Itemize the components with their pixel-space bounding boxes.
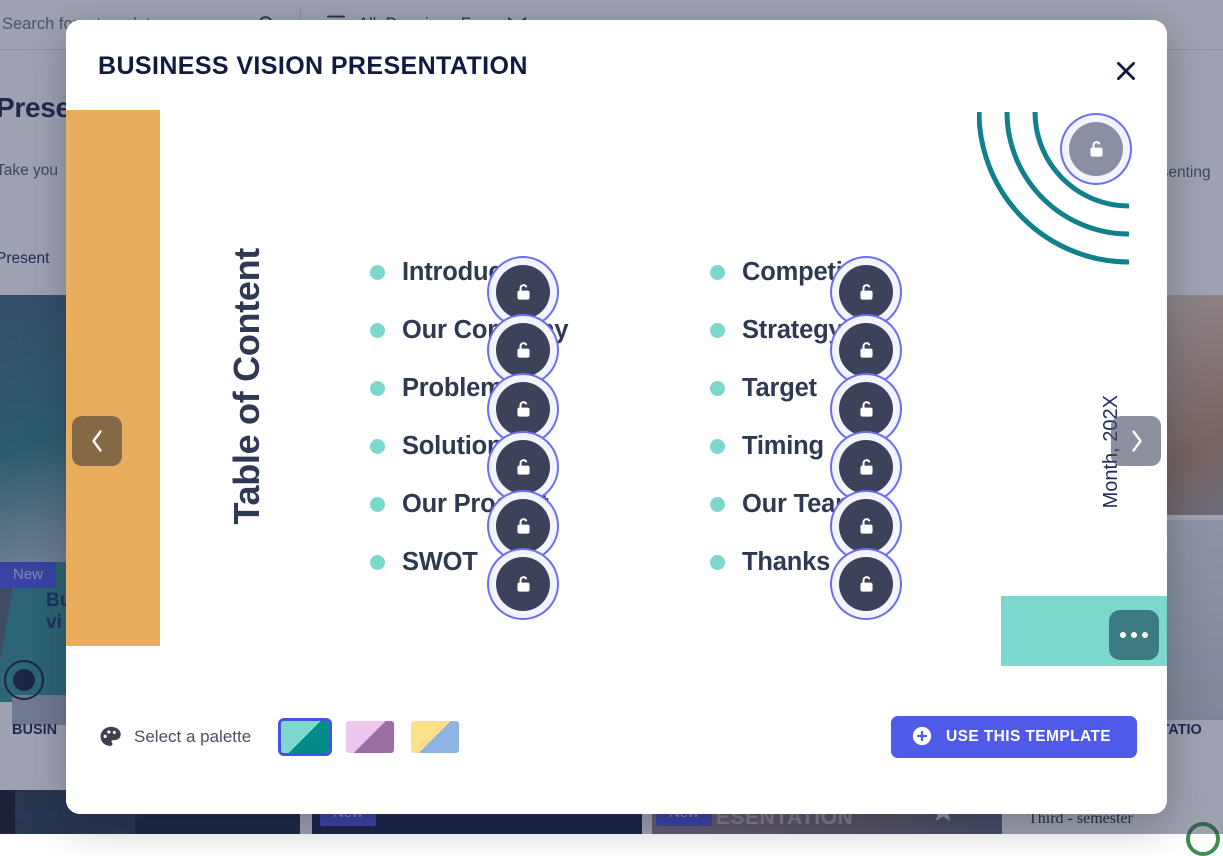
toc-item-label: SWOT bbox=[402, 548, 478, 577]
next-slide-button[interactable] bbox=[1111, 416, 1161, 466]
bullet-icon bbox=[370, 555, 385, 570]
palette-selector: Select a palette bbox=[98, 718, 473, 756]
lock-icon bbox=[839, 265, 893, 319]
plus-circle-icon bbox=[911, 725, 933, 750]
swatch-colors bbox=[346, 721, 394, 753]
use-this-template-label: USE THIS TEMPLATE bbox=[946, 728, 1111, 746]
bullet-icon bbox=[710, 497, 725, 512]
toc-item-label: Strategy bbox=[742, 316, 842, 345]
close-icon[interactable] bbox=[1109, 54, 1143, 88]
lock-icon bbox=[496, 557, 550, 611]
bullet-icon bbox=[370, 323, 385, 338]
bullet-icon bbox=[710, 555, 725, 570]
palette-label: Select a palette bbox=[134, 727, 251, 747]
toc-item-label: Timing bbox=[742, 432, 824, 461]
slide-canvas[interactable]: Table of Content Month, 202X Introductio… bbox=[66, 110, 1167, 666]
more-options-icon[interactable] bbox=[1109, 610, 1159, 660]
lock-icon bbox=[839, 323, 893, 377]
swatch-colors bbox=[281, 721, 329, 753]
slide-orange-bar bbox=[66, 110, 160, 646]
bullet-icon bbox=[370, 439, 385, 454]
lock-icon bbox=[1069, 122, 1123, 176]
palette-swatch-yellow-blue[interactable] bbox=[408, 718, 462, 756]
slide-section-title: Table of Content bbox=[226, 248, 268, 525]
toc-item-label: Thanks bbox=[742, 548, 830, 577]
bullet-icon bbox=[370, 497, 385, 512]
lock-icon bbox=[496, 382, 550, 436]
bullet-icon bbox=[370, 381, 385, 396]
bullet-icon bbox=[710, 323, 725, 338]
lock-icon bbox=[496, 440, 550, 494]
lock-icon bbox=[839, 557, 893, 611]
palette-swatch-pink-purple[interactable] bbox=[343, 718, 397, 756]
lock-icon bbox=[839, 440, 893, 494]
toc-item-label: Our Team bbox=[742, 490, 858, 519]
lock-icon bbox=[839, 382, 893, 436]
modal-title: BUSINESS VISION PRESENTATION bbox=[98, 52, 528, 81]
bullet-icon bbox=[370, 265, 385, 280]
lock-icon bbox=[496, 323, 550, 377]
bullet-icon bbox=[710, 439, 725, 454]
lock-icon bbox=[839, 499, 893, 553]
lock-icon bbox=[496, 265, 550, 319]
toc-item-label: Target bbox=[742, 374, 817, 403]
palette-icon bbox=[98, 724, 124, 750]
swatch-colors bbox=[411, 721, 459, 753]
bullet-icon bbox=[710, 381, 725, 396]
lock-icon bbox=[496, 499, 550, 553]
template-preview-modal: BUSINESS VISION PRESENTATION Table of Co… bbox=[66, 20, 1167, 814]
use-this-template-button[interactable]: USE THIS TEMPLATE bbox=[891, 716, 1137, 758]
palette-swatch-teal-mint[interactable] bbox=[278, 718, 332, 756]
prev-slide-button[interactable] bbox=[72, 416, 122, 466]
bullet-icon bbox=[710, 265, 725, 280]
modal-footer: Select a palette USE THIS TEMPLATE bbox=[66, 666, 1167, 814]
